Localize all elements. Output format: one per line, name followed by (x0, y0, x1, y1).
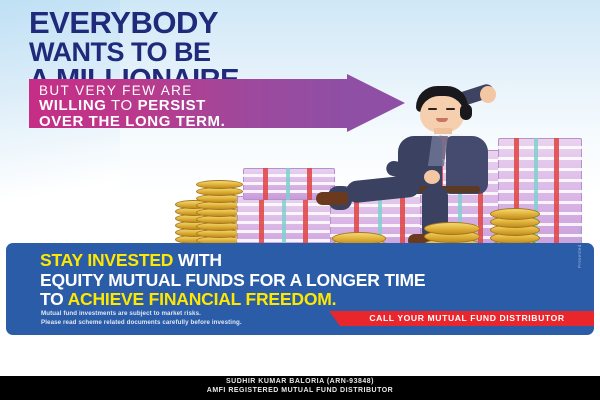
arrow-line-2-mid: TO (107, 97, 138, 114)
side-credit-text: Presented by: MF (577, 224, 582, 268)
call-distributor-label: CALL YOUR MUTUAL FUND DISTRIBUTOR (340, 311, 594, 326)
headline-line-1: EVERYBODY (29, 8, 389, 38)
arrow-line-3: OVER THE LONG TERM. (39, 114, 225, 130)
arrow-line-2-bold2: PERSIST (138, 97, 206, 114)
arrow-banner-text: BUT VERY FEW ARE WILLING TO PERSIST OVER… (39, 84, 225, 131)
blue-panel-message: STAY INVESTED WITH EQUITY MUTUAL FUNDS F… (40, 251, 560, 310)
arrow-line-1: BUT VERY FEW ARE (39, 84, 225, 98)
arrow-line-2-bold: WILLING (39, 97, 107, 114)
blue-line-1: STAY INVESTED WITH (40, 251, 560, 271)
blue-line-3: TO ACHIEVE FINANCIAL FREEDOM. (40, 290, 560, 310)
blue-line-3-highlight: ACHIEVE FINANCIAL FREEDOM. (68, 289, 337, 309)
contact-strip: SUDHIR KUMAR BALORIA MOBILE: 9343223068 … (0, 335, 600, 375)
blue-line-2: EQUITY MUTUAL FUNDS FOR A LONGER TIME (40, 271, 560, 291)
right-arrow-banner: BUT VERY FEW ARE WILLING TO PERSIST OVER… (29, 79, 404, 128)
blue-line-1-rest: WITH (173, 250, 222, 270)
headline-line-2: WANTS TO BE (29, 39, 389, 65)
headline-line-2-bold: WANTS (29, 37, 124, 67)
arrow-head-icon (347, 74, 405, 132)
footer-line-1: SUDHIR KUMAR BALORIA (ARN-93848) (0, 378, 600, 385)
disclaimer-text: Mutual fund investments are subject to m… (41, 309, 242, 328)
call-distributor-banner[interactable]: CALL YOUR MUTUAL FUND DISTRIBUTOR (340, 311, 594, 326)
footer-line-2: AMFI REGISTERED MUTUAL FUND DISTRIBUTOR (0, 387, 600, 394)
blue-line-1-highlight: STAY INVESTED (40, 250, 173, 270)
arrow-line-2: WILLING TO PERSIST (39, 98, 225, 114)
poster: EVERYBODY WANTS TO BE A MILLIONAIRE. BUT… (0, 0, 600, 400)
disclaimer-line-2: Please read scheme related documents car… (41, 318, 242, 327)
blue-line-3-pre: TO (40, 289, 68, 309)
headline-line-2-rest: TO BE (124, 37, 211, 67)
disclaimer-line-1: Mutual fund investments are subject to m… (41, 309, 242, 318)
